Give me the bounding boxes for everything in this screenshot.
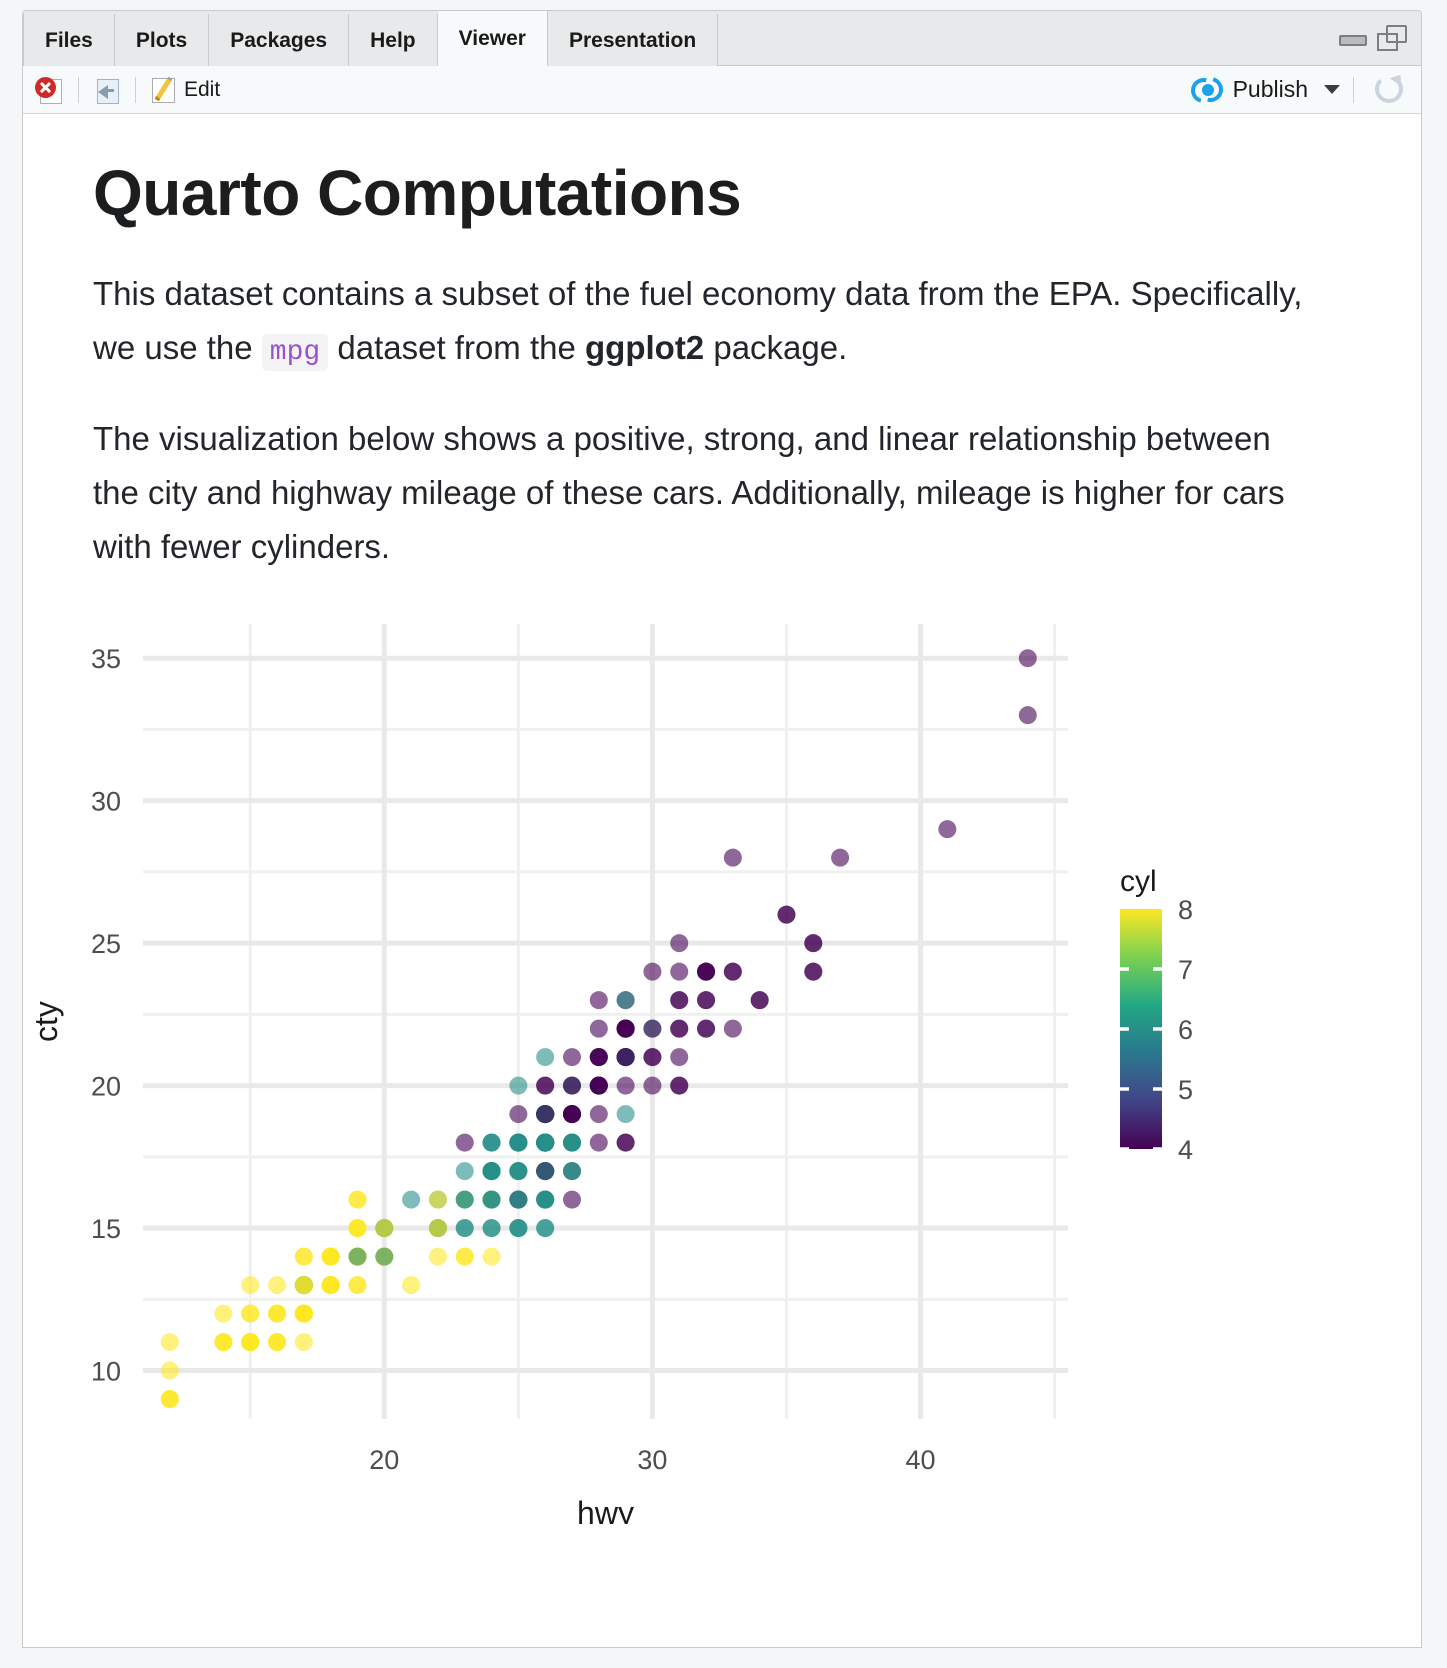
data-point	[697, 991, 715, 1009]
stop-icon[interactable]	[35, 75, 65, 105]
data-point	[617, 1048, 635, 1066]
data-point	[295, 1305, 313, 1323]
y-axis-title: cty	[28, 1001, 64, 1042]
x-tick-label: 40	[906, 1445, 936, 1475]
toolbar-separator	[1353, 77, 1354, 103]
scatter-plot-figure: 101520253035203040hwyctycyl45678	[23, 604, 1363, 1524]
data-point	[214, 1305, 232, 1323]
legend-tick-label: 7	[1178, 955, 1193, 985]
edit-button-label[interactable]: Edit	[184, 78, 220, 102]
tab-files[interactable]: Files	[23, 14, 115, 67]
data-point	[643, 1077, 661, 1095]
data-point	[617, 1077, 635, 1095]
data-point	[268, 1333, 286, 1351]
data-point	[670, 963, 688, 981]
minimize-icon[interactable]	[1339, 25, 1367, 49]
data-point	[590, 1048, 608, 1066]
data-point	[161, 1333, 179, 1351]
data-point	[456, 1134, 474, 1152]
paragraph-description: The visualization below shows a positive…	[93, 412, 1308, 574]
tab-plots[interactable]: Plots	[115, 14, 209, 67]
data-point	[509, 1134, 527, 1152]
data-point	[241, 1333, 259, 1351]
data-point	[590, 1077, 608, 1095]
viewer-toolbar: Edit Publish	[22, 66, 1422, 114]
data-point	[536, 1077, 554, 1095]
data-point	[670, 934, 688, 952]
paragraph-intro-text-2: dataset from the	[328, 329, 585, 366]
data-point	[322, 1276, 340, 1294]
toolbar-left-group: Edit	[23, 75, 220, 105]
page-title: Quarto Computations	[93, 156, 741, 230]
data-point	[402, 1191, 420, 1209]
data-point	[563, 1162, 581, 1180]
show-in-new-window-icon[interactable]	[92, 75, 122, 105]
data-point	[161, 1362, 179, 1380]
viewer-pane: FilesPlotsPackagesHelpViewerPresentation…	[22, 10, 1422, 1648]
data-point	[295, 1276, 313, 1294]
y-tick-label: 35	[91, 644, 121, 674]
data-point	[536, 1162, 554, 1180]
data-point	[563, 1191, 581, 1209]
inline-code-mpg: mpg	[262, 334, 328, 371]
data-point	[348, 1248, 366, 1266]
data-point	[509, 1191, 527, 1209]
data-point	[483, 1162, 501, 1180]
data-point	[804, 934, 822, 952]
tab-packages[interactable]: Packages	[209, 14, 349, 67]
data-point	[804, 963, 822, 981]
data-point	[429, 1248, 447, 1266]
data-point	[295, 1333, 313, 1351]
data-point	[563, 1105, 581, 1123]
data-point	[429, 1191, 447, 1209]
data-point	[670, 1048, 688, 1066]
cty-vs-hwy-scatter-chart: 101520253035203040hwyctycyl45678	[23, 604, 1363, 1524]
edit-pencil-icon[interactable]	[149, 75, 179, 105]
data-point	[241, 1276, 259, 1294]
legend-tick-label: 5	[1178, 1075, 1193, 1105]
data-point	[483, 1219, 501, 1237]
data-point	[456, 1162, 474, 1180]
data-point	[643, 963, 661, 981]
data-point	[563, 1048, 581, 1066]
data-point	[483, 1191, 501, 1209]
data-point	[617, 1020, 635, 1038]
data-point	[563, 1077, 581, 1095]
data-point	[536, 1048, 554, 1066]
data-point	[724, 849, 742, 867]
data-point	[563, 1134, 581, 1152]
data-point	[536, 1191, 554, 1209]
data-point	[322, 1248, 340, 1266]
paragraph-intro: This dataset contains a subset of the fu…	[93, 267, 1308, 380]
data-point	[536, 1134, 554, 1152]
y-tick-label: 25	[91, 929, 121, 959]
data-point	[375, 1219, 393, 1237]
data-point	[214, 1333, 232, 1351]
data-point	[483, 1248, 501, 1266]
data-point	[429, 1219, 447, 1237]
data-point	[777, 906, 795, 924]
data-point	[1019, 706, 1037, 724]
data-point	[724, 1020, 742, 1038]
data-point	[1019, 649, 1037, 667]
data-point	[241, 1305, 259, 1323]
data-point	[617, 1105, 635, 1123]
tab-help[interactable]: Help	[349, 14, 438, 67]
data-point	[348, 1219, 366, 1237]
data-point	[509, 1162, 527, 1180]
y-tick-label: 15	[91, 1214, 121, 1244]
data-point	[536, 1105, 554, 1123]
data-point	[670, 1077, 688, 1095]
chevron-down-icon[interactable]	[1324, 85, 1340, 94]
data-point	[348, 1276, 366, 1294]
maximize-icon[interactable]	[1377, 25, 1407, 51]
data-point	[590, 1105, 608, 1123]
data-point	[643, 1048, 661, 1066]
strong-ggplot2: ggplot2	[585, 329, 704, 366]
data-point	[509, 1219, 527, 1237]
legend-tick-label: 8	[1178, 895, 1193, 925]
publish-button[interactable]: Publish	[1233, 76, 1308, 103]
data-point	[590, 991, 608, 1009]
toolbar-separator	[78, 77, 79, 103]
data-point	[375, 1248, 393, 1266]
data-point	[697, 1020, 715, 1038]
pane-tabstrip: FilesPlotsPackagesHelpViewerPresentation	[22, 10, 1422, 66]
data-point	[751, 991, 769, 1009]
data-point	[456, 1191, 474, 1209]
data-point	[509, 1105, 527, 1123]
legend-title: cyl	[1120, 865, 1157, 898]
data-point	[268, 1305, 286, 1323]
data-point	[456, 1248, 474, 1266]
publish-icon[interactable]	[1190, 77, 1224, 103]
viewer-content: Quarto Computations This dataset contain…	[22, 114, 1422, 1648]
paragraph-intro-text-3: package.	[704, 329, 847, 366]
data-point	[831, 849, 849, 867]
data-point	[295, 1248, 313, 1266]
data-point	[536, 1219, 554, 1237]
data-point	[938, 820, 956, 838]
data-point	[402, 1276, 420, 1294]
data-point	[697, 963, 715, 981]
x-tick-label: 30	[637, 1445, 667, 1475]
legend-tick-label: 6	[1178, 1015, 1193, 1045]
data-point	[670, 1020, 688, 1038]
y-tick-label: 30	[91, 787, 121, 817]
data-point	[456, 1219, 474, 1237]
x-tick-label: 20	[369, 1445, 399, 1475]
data-point	[670, 991, 688, 1009]
tab-presentation[interactable]: Presentation	[548, 14, 718, 67]
data-point	[161, 1390, 179, 1408]
toolbar-right-group: Publish	[1190, 73, 1421, 107]
data-point	[509, 1077, 527, 1095]
x-axis-title: hwy	[577, 1495, 634, 1524]
y-tick-label: 20	[91, 1072, 121, 1102]
y-tick-label: 10	[91, 1357, 121, 1387]
data-point	[643, 1020, 661, 1038]
tab-viewer[interactable]: Viewer	[438, 11, 548, 67]
data-point	[348, 1191, 366, 1209]
toolbar-separator	[135, 77, 136, 103]
legend-tick-label: 4	[1178, 1135, 1193, 1165]
data-point	[724, 963, 742, 981]
data-point	[617, 991, 635, 1009]
window-buttons	[1339, 25, 1407, 51]
data-point	[268, 1276, 286, 1294]
data-point	[590, 1134, 608, 1152]
data-point	[590, 1020, 608, 1038]
data-point	[483, 1134, 501, 1152]
data-point	[617, 1134, 635, 1152]
refresh-icon[interactable]	[1373, 73, 1407, 107]
tab-list: FilesPlotsPackagesHelpViewerPresentation	[23, 11, 718, 67]
